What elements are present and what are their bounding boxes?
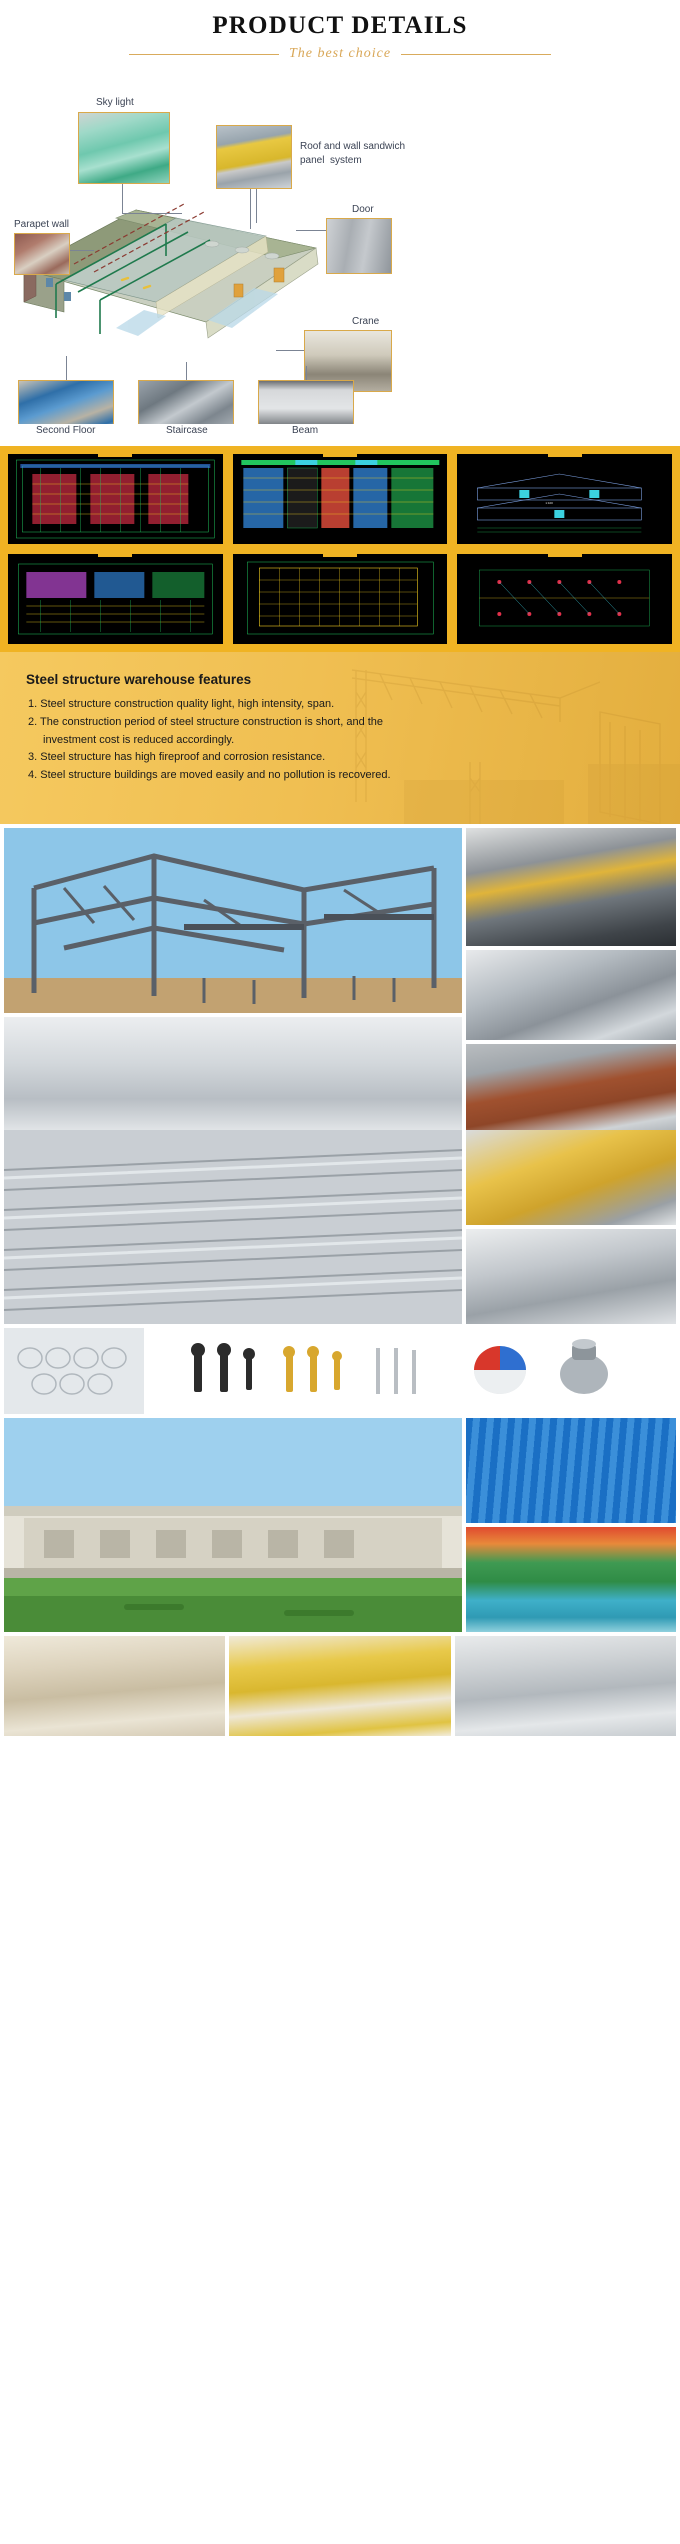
connector-second-floor <box>66 356 67 380</box>
gallery-section-4 <box>0 1414 680 1632</box>
beige-sandwich-panel-photo <box>4 1636 225 1736</box>
brick-wall-steel-photo <box>466 1044 676 1134</box>
cad-row-2 <box>6 552 674 646</box>
sandwich-panel-edge-photo <box>4 1017 462 1134</box>
cad-drawing-5 <box>231 552 450 646</box>
label-roof-wall-panel: Roof and wall sandwich panel system <box>300 140 420 167</box>
cad-tab <box>323 452 357 457</box>
connector-door <box>296 230 326 231</box>
cad-tab <box>323 552 357 557</box>
feature-item-4: 4. Steel structure buildings are moved e… <box>26 767 654 785</box>
divider-line-left <box>129 54 279 55</box>
cad-tab <box>98 552 132 557</box>
label-beam: Beam <box>292 424 318 438</box>
connector-crane <box>276 350 304 351</box>
thumbnail-label-row: Second Floor Staircase Beam <box>0 424 680 446</box>
features-title: Steel structure warehouse features <box>26 672 654 687</box>
gallery-section-5 <box>0 1632 680 1738</box>
subtitle-row: The best choice <box>0 46 680 62</box>
cad-tab <box>98 452 132 457</box>
grey-sandwich-panel-photo <box>455 1636 676 1736</box>
label-sky-light: Sky light <box>96 96 134 110</box>
pipe-stack-photo <box>4 1328 144 1414</box>
ibeam-stack-photo <box>466 828 676 946</box>
connector-roof-panel <box>250 189 251 229</box>
feature-item-2: 2. The construction period of steel stru… <box>26 714 654 732</box>
cad-drawing-3: 1:100 <box>455 452 674 546</box>
parapet-wall-photo <box>14 233 70 275</box>
cad-drawing-2 <box>231 452 450 546</box>
label-parapet-wall: Parapet wall <box>14 218 69 232</box>
page-header: PRODUCT DETAILS The best choice <box>0 0 680 70</box>
connector-roof-panel-2 <box>256 189 257 223</box>
connector-staircase <box>186 362 187 380</box>
features-section: Steel structure warehouse features 1. St… <box>0 652 680 824</box>
label-staircase: Staircase <box>166 424 208 438</box>
connector-parapet <box>70 250 94 251</box>
feature-item-3: 3. Steel structure has high fireproof an… <box>26 749 654 767</box>
connector-sky-light <box>122 184 123 214</box>
blue-corrugated-roof-photo <box>466 1418 676 1523</box>
feature-item-2-continued: investment cost is reduced accordingly. <box>26 732 654 750</box>
gallery-section-2 <box>0 1126 680 1324</box>
cad-row-1: 1:100 <box>6 452 674 546</box>
roof-wall-panel-photo <box>216 125 292 189</box>
label-door: Door <box>352 203 374 217</box>
cad-drawings-section: 1:100 <box>0 446 680 652</box>
svg-text:1:100: 1:100 <box>546 501 554 505</box>
label-crane: Crane <box>352 315 379 329</box>
cad-tab <box>548 452 582 457</box>
connector-sky-light-h <box>122 213 182 214</box>
cad-drawing-1 <box>6 452 225 546</box>
angle-steel-photo <box>466 1229 676 1324</box>
yellow-bundle-photo <box>466 1130 676 1225</box>
steel-frame-construction-photo <box>4 828 462 1013</box>
feature-item-1: 1. Steel structure construction quality … <box>26 696 654 714</box>
gallery-section-1 <box>0 824 680 1134</box>
warehouse-exterior-photo <box>4 1418 462 1632</box>
cad-drawing-6 <box>455 552 674 646</box>
gallery-section-3 <box>0 1324 680 1414</box>
label-second-floor: Second Floor <box>36 424 95 438</box>
sky-light-photo <box>78 112 170 184</box>
purlin-bundle-photo <box>466 950 676 1040</box>
multicolor-roof-tile-photo <box>466 1527 676 1632</box>
cad-tab <box>548 552 582 557</box>
page-title: PRODUCT DETAILS <box>0 0 680 40</box>
c-purlin-stack-photo <box>4 1130 462 1324</box>
bolts-fasteners-photo <box>148 1328 676 1414</box>
divider-line-right <box>401 54 551 55</box>
annotated-building-diagram: Sky light Roof and wall sandwich panel s… <box>0 70 680 440</box>
page-subtitle: The best choice <box>289 46 391 62</box>
yellow-sandwich-panel-photo <box>229 1636 450 1736</box>
connector-beam <box>306 366 307 380</box>
cad-drawing-4 <box>6 552 225 646</box>
door-photo <box>326 218 392 274</box>
